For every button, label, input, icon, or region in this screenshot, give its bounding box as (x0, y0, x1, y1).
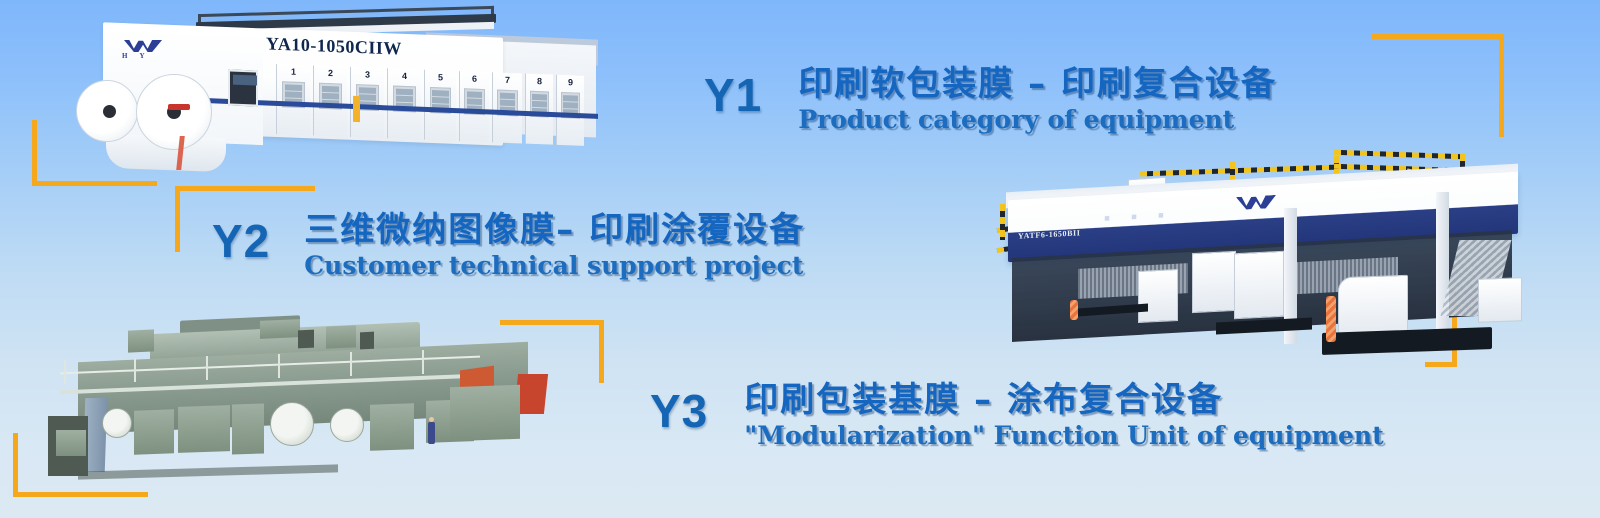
machine-b-cabinet-5 (1478, 277, 1522, 323)
machine-c-operator (428, 422, 435, 444)
machine-image-base-film-line (30, 312, 575, 484)
machine-image-rotogravure-press: HY YA10-1050CIIW 123456789 (58, 8, 598, 180)
machine-c-rail-post-2 (134, 358, 136, 382)
machine-c-roller-1 (102, 408, 132, 438)
machine-a-rewind-reel (136, 74, 212, 150)
machine-b-support-column-2 (1436, 192, 1449, 340)
machine-a-print-unit: 1 (276, 64, 310, 135)
bracket-mid-left-vertical (175, 186, 180, 252)
machine-a-print-unit: 4 (387, 68, 421, 139)
bracket-left-upper-vertical (32, 120, 37, 185)
machine-a-print-unit: 8 (525, 74, 553, 145)
machine-c-duct-3 (326, 325, 356, 348)
text-row-y1: Y1 印刷软包装膜 – 印刷复合设备 Product category of e… (704, 66, 1277, 134)
bracket-top-right-vertical (1499, 34, 1504, 137)
machine-a-print-unit-number: 1 (291, 67, 296, 77)
machine-c-frame-3 (232, 403, 264, 454)
machine-c-duct-2 (260, 319, 300, 339)
machine-a-print-unit-number: 9 (568, 77, 573, 87)
row-chinese-y1: 印刷软包装膜 – 印刷复合设备 (798, 66, 1277, 103)
machine-b-base-plate-2 (1322, 327, 1492, 355)
machine-c-roller-3 (330, 408, 364, 442)
machine-a-red-handle (168, 104, 190, 110)
row-code-y2: Y2 (212, 218, 270, 264)
row-code-y1: Y1 (704, 72, 762, 118)
machine-b-hose-2 (1070, 300, 1078, 320)
machine-b-cabinet-2 (1234, 251, 1284, 320)
machine-c-frame-2 (178, 405, 230, 453)
machine-c-floor-shadow (78, 464, 338, 479)
machine-c-rail-post-5 (350, 352, 352, 376)
bracket-bottom-left-vertical (13, 433, 18, 497)
machine-a-control-panel (228, 69, 258, 106)
row-english-y1: Product category of equipment (798, 106, 1277, 134)
row-text-y3: 印刷包装基膜 – 涂布复合设备 "Modularization" Functio… (744, 382, 1383, 450)
row-chinese-y3: 印刷包装基膜 – 涂布复合设备 (744, 382, 1383, 419)
machine-c-rail-post-4 (278, 354, 280, 378)
machine-a-print-unit: 9 (556, 75, 584, 146)
row-english-y3: "Modularization" Function Unit of equipm… (744, 422, 1383, 450)
machine-c-roller-2 (270, 402, 314, 446)
machine-c-frame-4 (370, 403, 414, 451)
machine-a-print-unit-number: 6 (472, 74, 477, 84)
machine-a-print-unit: 5 (424, 70, 456, 141)
text-row-y2: Y2 三维微纳图像膜– 印刷涂覆设备 Customer technical su… (212, 212, 805, 280)
machine-b-cabinet-1 (1192, 251, 1236, 313)
machine-c-rail-post-3 (206, 356, 208, 380)
machine-a-logo-mark (124, 40, 162, 52)
machine-b-post-1 (1000, 204, 1005, 240)
bracket-top-right-horizontal (1372, 34, 1504, 39)
bracket-left-upper-horizontal (32, 181, 157, 186)
machine-b-rail-right-top (1334, 150, 1464, 160)
machine-a-logo-letters: HY (122, 52, 157, 60)
machine-c-rail-post-1 (64, 360, 66, 384)
row-text-y2: 三维微纳图像膜– 印刷涂覆设备 Customer technical suppo… (304, 212, 805, 280)
row-english-y2: Customer technical support project (304, 252, 805, 280)
bracket-mid-left-horizontal (175, 186, 315, 191)
row-code-y3: Y3 (650, 388, 708, 434)
machine-c-motor-2 (360, 332, 374, 351)
bracket-bottom-left-horizontal (13, 492, 148, 497)
machine-a-print-unit-number: 3 (365, 69, 370, 79)
row-chinese-y2: 三维微纳图像膜– 印刷涂覆设备 (304, 212, 805, 249)
machine-c-end-cabinet (56, 430, 86, 456)
machine-a-print-unit-number: 7 (505, 75, 510, 85)
text-row-y3: Y3 印刷包装基膜 – 涂布复合设备 "Modularization" Func… (650, 382, 1384, 450)
machine-c-motor-1 (298, 330, 314, 349)
machine-a-brand-logo: HY (120, 38, 166, 60)
machine-c-frame-6 (450, 385, 520, 441)
machine-a-print-unit-number: 2 (328, 68, 333, 78)
equipment-banner: HY YA10-1050CIIW 123456789 YA (0, 0, 1600, 518)
machine-c-frame-1 (134, 409, 174, 454)
machine-a-yellow-marker (353, 96, 360, 122)
machine-b-hose (1326, 296, 1336, 342)
bracket-mid-right-vertical (599, 320, 604, 383)
machine-a-print-unit: 2 (313, 65, 347, 136)
machine-c-duct-1 (128, 329, 154, 352)
machine-b-cabinet-3 (1138, 269, 1178, 323)
machine-a-print-unit: 7 (492, 72, 522, 143)
machine-a-unwind-reel (76, 80, 138, 142)
machine-image-coating-laminator: YATF6-1650BII ▪ ▪ ▪ (978, 148, 1530, 372)
machine-c-rail-post-6 (422, 350, 424, 374)
machine-a-print-unit-number: 4 (402, 71, 407, 81)
row-text-y1: 印刷软包装膜 – 印刷复合设备 Product category of equi… (798, 66, 1277, 134)
machine-a-print-unit: 6 (459, 71, 489, 142)
machine-a-print-unit-number: 5 (438, 72, 443, 82)
machine-a-print-unit-number: 8 (537, 76, 542, 86)
